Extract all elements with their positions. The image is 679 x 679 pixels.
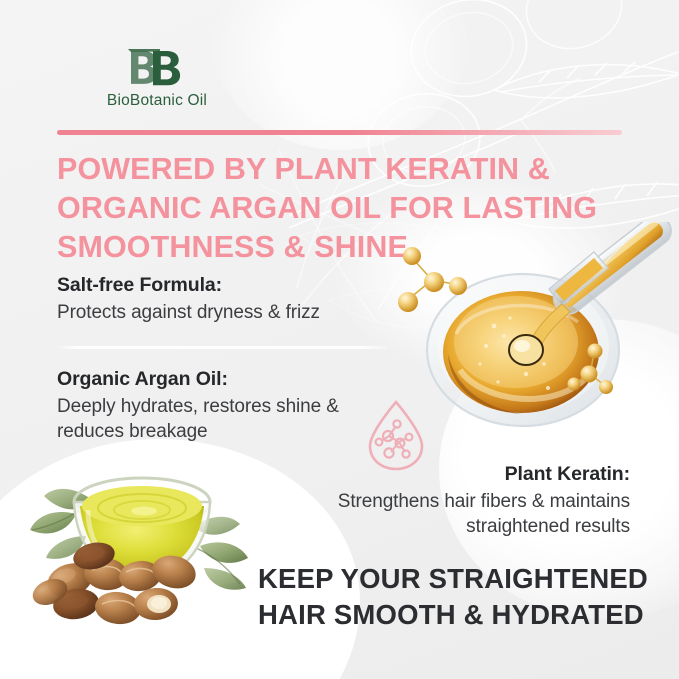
feature-body: Strengthens hair fibers & maintains stra… [300,489,630,539]
feature-body: Protects against dryness & frizz [57,300,417,325]
feature-title: Organic Argan Oil: [57,368,387,391]
droplet-molecule-icon [365,398,427,472]
feature-plant-keratin: Plant Keratin: Strengthens hair fibers &… [300,463,630,539]
product-infographic-canvas: BioBotanic Oil POWERED BY PLANT KERATIN … [0,0,679,679]
bb-monogram-icon [120,44,194,90]
feature-title: Salt-free Formula: [57,274,417,297]
feature-salt-free: Salt-free Formula: Protects against dryn… [57,274,417,325]
feature-divider [57,346,387,349]
page-title: POWERED BY PLANT KERATIN & ORGANIC ARGAN… [57,150,637,267]
feature-title: Plant Keratin: [300,463,630,486]
argan-oil-bowl-with-nuts-image [14,464,274,654]
feature-body: Deeply hydrates, restores shine & reduce… [57,394,387,444]
footer-tagline: KEEP YOUR STRAIGHTENED HAIR SMOOTH & HYD… [258,561,658,633]
accent-rule [57,130,622,135]
brand-logo: BioBotanic Oil [72,44,242,110]
feature-organic-argan-oil: Organic Argan Oil: Deeply hydrates, rest… [57,368,387,444]
brand-name: BioBotanic Oil [72,92,242,110]
background-glow-top [210,0,470,150]
